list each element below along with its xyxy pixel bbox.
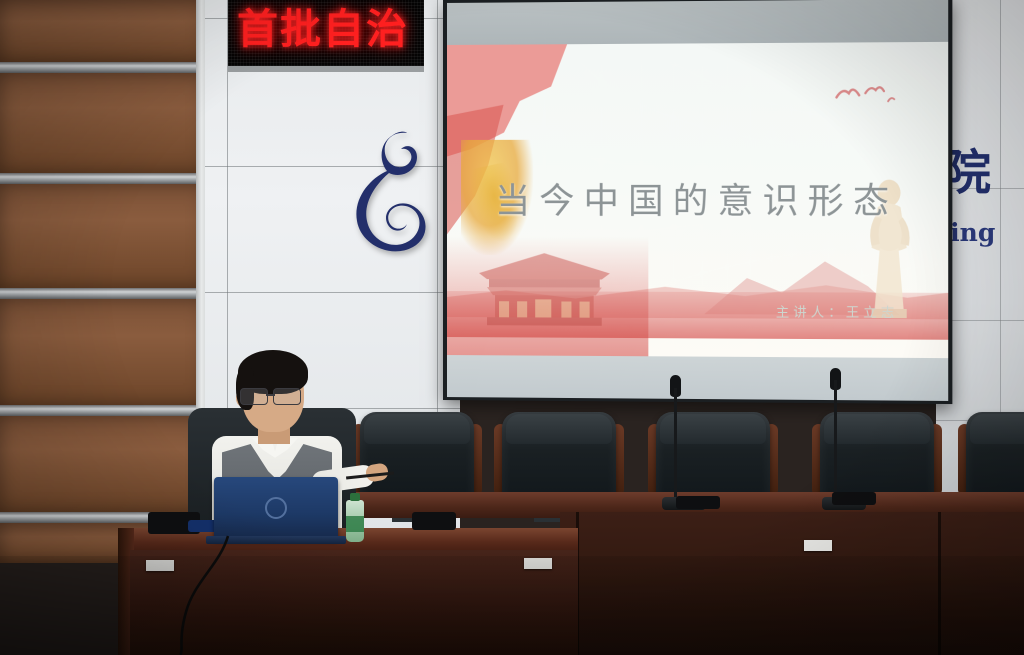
chair-headrest bbox=[364, 414, 470, 444]
glasses-lens-left bbox=[240, 388, 268, 405]
conference-room-scene: 首批自治 ——第 院 ring bbox=[0, 0, 1024, 655]
left-wood-wall bbox=[0, 0, 205, 560]
slide-birds-icon bbox=[832, 81, 904, 108]
metal-strip bbox=[0, 62, 205, 73]
microphone-gooseneck bbox=[674, 388, 677, 500]
glasses-lens-right bbox=[273, 388, 301, 405]
power-cable bbox=[100, 534, 230, 655]
metal-strip bbox=[0, 173, 205, 184]
desk-mic-base bbox=[832, 492, 876, 505]
conference-table-back-panel bbox=[560, 512, 1024, 655]
table-name-card bbox=[804, 540, 832, 551]
table-seam bbox=[938, 512, 941, 655]
led-text-left: 首批自治 bbox=[228, 0, 424, 58]
wood-plank bbox=[0, 184, 205, 288]
water-bottle bbox=[346, 500, 364, 542]
wood-plank bbox=[0, 0, 205, 62]
chair-headrest bbox=[970, 414, 1024, 444]
slide-title: 当今中国的意识形态 bbox=[447, 172, 948, 224]
institution-logo-icon bbox=[345, 125, 433, 255]
slide-presenter-text: 主讲人：王立志 bbox=[776, 301, 899, 321]
dell-logo-icon bbox=[265, 497, 287, 519]
metal-strip bbox=[0, 405, 205, 416]
panel-line bbox=[205, 292, 460, 293]
table-name-card bbox=[524, 558, 552, 569]
bottle-label bbox=[346, 516, 364, 532]
screen-top-band bbox=[447, 0, 948, 45]
wood-plank bbox=[0, 73, 205, 173]
wood-plank bbox=[0, 299, 205, 405]
metal-strip bbox=[0, 288, 205, 299]
bottle-cap bbox=[350, 493, 360, 501]
projected-slide: 当今中国的意识形态 主讲人：王立志 bbox=[447, 42, 948, 358]
glasses-bridge bbox=[266, 394, 275, 396]
desk-microphone[interactable] bbox=[822, 368, 866, 510]
led-marquee-left: 首批自治 bbox=[228, 0, 424, 69]
microphone-gooseneck bbox=[834, 380, 837, 500]
chair-headrest bbox=[506, 414, 612, 444]
desk-microphone[interactable] bbox=[662, 375, 706, 510]
projection-screen: 当今中国的意识形态 主讲人：王立志 bbox=[443, 0, 952, 404]
led-frame-bottom bbox=[228, 66, 424, 72]
slide-tiananmen-icon bbox=[469, 239, 620, 330]
desk-mic-base bbox=[676, 496, 720, 509]
desk-remote-device[interactable] bbox=[412, 512, 456, 530]
wood-plank bbox=[0, 416, 205, 512]
table-name-card bbox=[146, 560, 174, 571]
laptop[interactable] bbox=[214, 477, 338, 539]
glasses-icon bbox=[240, 388, 306, 403]
